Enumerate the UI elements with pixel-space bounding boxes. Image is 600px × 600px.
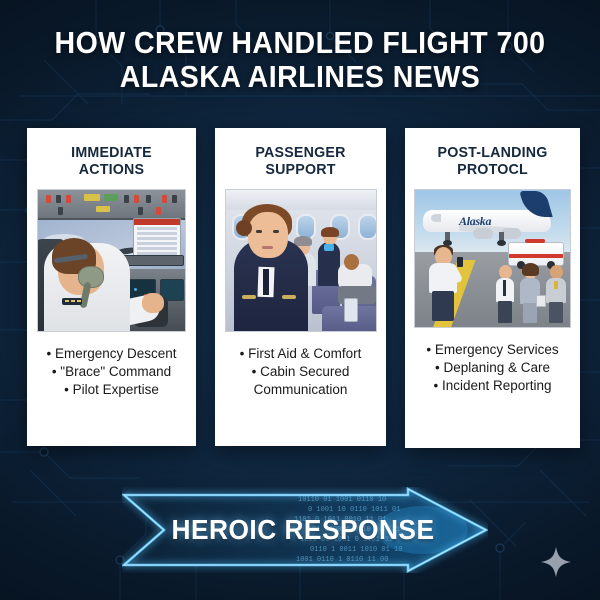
bullet-list: • Emergency Services • Deplaning & Care … <box>405 341 580 395</box>
list-item: • Deplaning & Care <box>411 359 574 377</box>
alaska-wordmark: Alaska <box>459 214 491 229</box>
cabin-flight-attendant-passengers-illustration <box>225 189 377 332</box>
list-item: • "Brace" Command <box>33 363 190 381</box>
banner-label: HEROIC RESPONSE <box>132 487 442 573</box>
list-item: • Emergency Services <box>411 341 574 359</box>
cockpit-pilot-oxygen-mask-illustration <box>37 189 186 332</box>
card-title: POST-LANDING PROTOCL <box>409 128 575 178</box>
card-title: IMMEDIATE ACTIONS <box>31 128 192 178</box>
bullet-list: • First Aid & Comfort • Cabin Secured Co… <box>215 345 386 399</box>
card-title: PASSENGER SUPPORT <box>219 128 381 178</box>
four-point-star-icon <box>540 546 572 578</box>
card-immediate-actions[interactable]: IMMEDIATE ACTIONS <box>27 128 196 446</box>
card-passenger-support[interactable]: PASSENGER SUPPORT <box>215 128 386 446</box>
title-line-2: ALASKA AIRLINES NEWS <box>24 60 576 94</box>
list-item: • First Aid & Comfort <box>221 345 380 363</box>
title-line-1: HOW CREW HANDLED FLIGHT 700 <box>24 26 576 60</box>
list-item: • Emergency Descent <box>33 345 190 363</box>
tarmac-alaska-airlines-plane-ambulance-illustration: Alaska <box>414 189 571 328</box>
infographic-root: HOW CREW HANDLED FLIGHT 700 ALASKA AIRLI… <box>0 0 600 600</box>
heroic-response-banner[interactable]: 10110 01 1001 0110 10 0 1001 10 0110 101… <box>122 487 488 573</box>
card-post-landing-protocol[interactable]: POST-LANDING PROTOCL Alaska <box>405 128 580 448</box>
bullet-list: • Emergency Descent • "Brace" Command • … <box>27 345 196 399</box>
page-title: HOW CREW HANDLED FLIGHT 700 ALASKA AIRLI… <box>0 26 600 94</box>
list-item: • Pilot Expertise <box>33 381 190 399</box>
list-item: • Cabin Secured Communication <box>221 363 380 399</box>
list-item: • Incident Reporting <box>411 377 574 395</box>
